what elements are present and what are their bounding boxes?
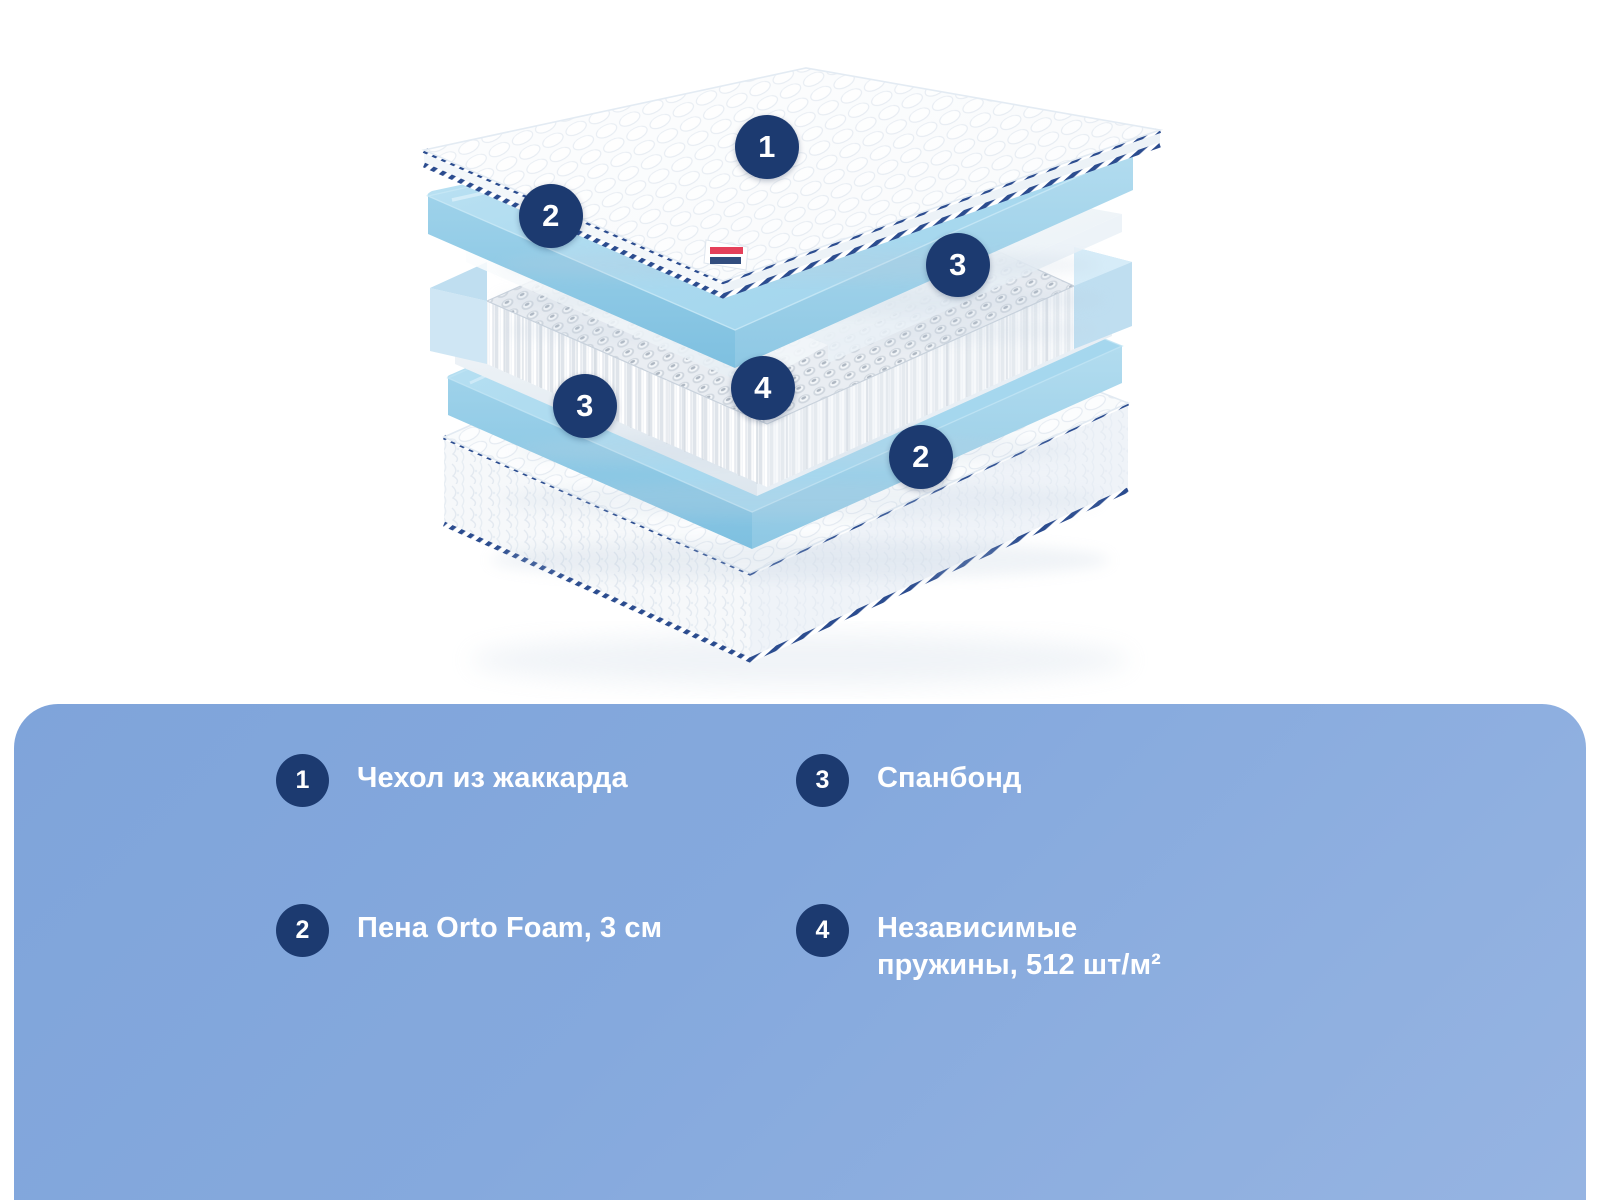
- legend-label-4-line2: пружины, 512 шт/м²: [877, 947, 1161, 984]
- legend-label-4-line1: Независимые: [877, 910, 1161, 947]
- legend-badge-1: 1: [276, 754, 329, 807]
- legend-label-3-line1: Спанбонд: [877, 762, 1021, 794]
- diagram-pin-3-bottom[interactable]: 3: [553, 374, 617, 438]
- diagram-pin-3-bottom-label: 3: [576, 388, 594, 424]
- diagram-pin-1-label: 1: [758, 129, 776, 165]
- legend-badge-2: 2: [276, 904, 329, 957]
- diagram-pin-3-top[interactable]: 3: [926, 233, 990, 297]
- diagram-pin-2-top[interactable]: 2: [519, 184, 583, 248]
- legend-badge-4-number: 4: [816, 916, 830, 945]
- legend-item-1: 1 Чехол из жаккарда: [276, 752, 796, 902]
- legend-badge-4: 4: [796, 904, 849, 957]
- mattress-layers-diagram: 1 2 3 4 3 2: [0, 0, 1600, 700]
- diagram-pin-2-bottom[interactable]: 2: [889, 425, 953, 489]
- diagram-pin-2-bottom-label: 2: [912, 439, 930, 475]
- diagram-pin-1[interactable]: 1: [735, 115, 799, 179]
- diagram-pin-3-top-label: 3: [949, 247, 967, 283]
- legend-grid: 1 Чехол из жаккарда 3 Спанбонд 2 Пена Or…: [276, 752, 1376, 1052]
- legend-label-1-line1: Чехол из жаккарда: [357, 762, 628, 794]
- diagram-pin-4[interactable]: 4: [731, 356, 795, 420]
- legend-item-3: 3 Спанбонд: [796, 752, 1316, 902]
- legend-label-2-line1: Пена Orto Foam, 3 см: [357, 912, 662, 944]
- legend-panel: 1 Чехол из жаккарда 3 Спанбонд 2 Пена Or…: [14, 704, 1586, 1200]
- diagram-pin-4-label: 4: [754, 370, 772, 406]
- legend-item-2: 2 Пена Orto Foam, 3 см: [276, 902, 796, 1052]
- legend-label-3: Спанбонд: [877, 752, 1021, 797]
- legend-badge-3: 3: [796, 754, 849, 807]
- diagram-pin-2-top-label: 2: [542, 198, 560, 234]
- legend-label-2: Пена Orto Foam, 3 см: [357, 902, 662, 947]
- mattress-exploded-illustration: [0, 0, 1600, 700]
- legend-badge-1-number: 1: [296, 766, 310, 795]
- legend-badge-2-number: 2: [296, 916, 310, 945]
- legend-label-1: Чехол из жаккарда: [357, 752, 628, 797]
- legend-item-4: 4 Независимые пружины, 512 шт/м²: [796, 902, 1316, 1052]
- layer-jacquard-cover: [424, 68, 1160, 296]
- legend-label-4: Независимые пружины, 512 шт/м²: [877, 902, 1161, 984]
- legend-badge-3-number: 3: [816, 766, 830, 795]
